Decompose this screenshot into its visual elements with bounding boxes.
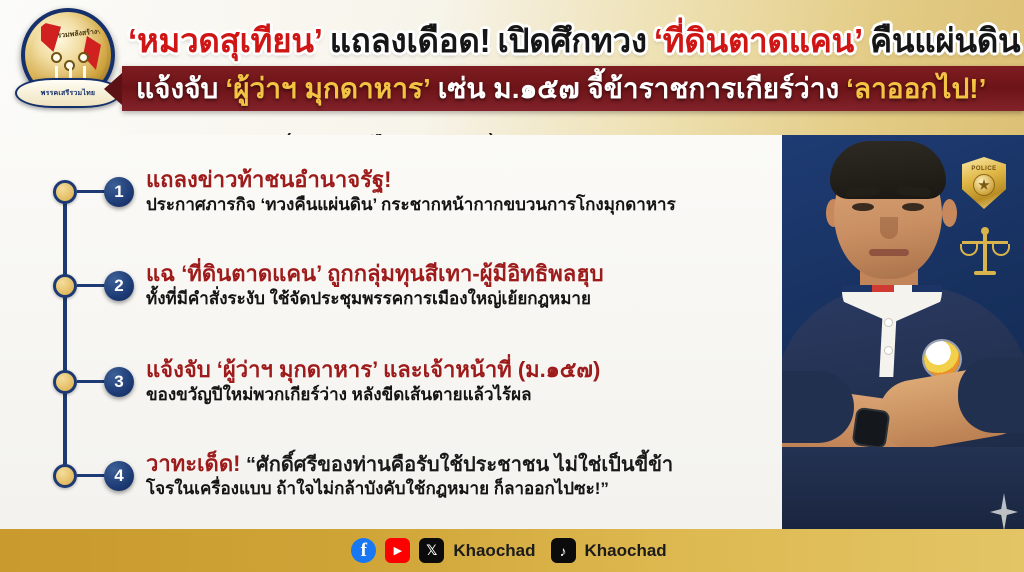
headline-1-part-0: ‘หมวดสุเทียน’ (128, 14, 323, 67)
headline-line-2-banner: แจ้งจับ‘ผู้ว่าฯ มุกดาหาร’เซ่น ม.๑๕๗ จี้ข… (122, 66, 1024, 111)
timeline-item-subtext: ทั้งที่มีคำสั่งระงับ ใช้จัดประชุมพรรคการ… (146, 288, 756, 309)
headline-line-1: ‘หมวดสุเทียน’แถลงเดือด!เปิดศึกทวง‘ที่ดิน… (128, 16, 1018, 64)
police-badge-disc (973, 174, 995, 196)
logo-dot (78, 52, 89, 63)
timeline-headline-text: แจ้งจับ ‘ผู้ว่าฯ มุกดาหาร’ และเจ้าหน้าที… (146, 357, 600, 382)
photo-sleeve-left (782, 371, 854, 443)
facebook-icon[interactable]: f (351, 538, 376, 563)
timeline-connector-1 (77, 190, 107, 193)
photo-ear-right (942, 199, 957, 227)
photo-eye-left (852, 203, 874, 211)
headline-2-part-1: ‘ผู้ว่าฯ มุกดาหาร’ (225, 67, 430, 111)
timeline-item-3: แจ้งจับ ‘ผู้ว่าฯ มุกดาหาร’ และเจ้าหน้าที… (146, 358, 756, 405)
photo-sleeve-right (958, 357, 1024, 433)
timeline-item-subtext: ประกาศภารกิจ ‘ทวงคืนแผ่นดิน’ กระชากหน้าก… (146, 194, 756, 215)
timeline-headline-quote: “ศักดิ์ศรีของท่านคือรับใช้ประชาชน ไม่ใช่… (240, 454, 673, 476)
subject-photo: POLICE (782, 135, 1024, 529)
timeline-item-headline: วาทะเด็ด! “ศักดิ์ศรีของท่านคือรับใช้ประช… (146, 452, 756, 476)
social-links: f▶𝕏Khaochad♪Khaochad (351, 538, 672, 563)
photo-eye-right (902, 203, 924, 211)
timeline-item-1: แถลงข่าวท้าชนอำนาจรัฐ!ประกาศภารกิจ ‘ทวงค… (146, 168, 756, 215)
timeline-item-headline: แจ้งจับ ‘ผู้ว่าฯ มุกดาหาร’ และเจ้าหน้าที… (146, 358, 756, 382)
timeline-item-4: วาทะเด็ด! “ศักดิ์ศรีของท่านคือรับใช้ประช… (146, 452, 756, 499)
timeline-connector-3 (77, 380, 107, 383)
social-handle[interactable]: Khaochad (585, 541, 667, 561)
timeline-headline-text: แฉ ‘ที่ดินตาดแคน’ ถูกกลุ่มทุนสีเทา-ผู้มี… (146, 261, 604, 286)
timeline-headline-text: วาทะเด็ด! (146, 451, 240, 476)
timeline-node-3 (53, 370, 77, 394)
scales-pan-left (960, 244, 978, 256)
photo-nose (880, 217, 898, 239)
timeline-connector-2 (77, 284, 107, 287)
timeline-headline-text: แถลงข่าวท้าชนอำนาจรัฐ! (146, 167, 391, 192)
headline-2-part-2: เซ่น ม.๑๕๗ จี้ข้าราชการเกียร์ว่าง (438, 67, 839, 111)
timeline-rail (63, 182, 67, 482)
photo-mouth (869, 249, 909, 256)
scales-of-justice-icon (960, 227, 1010, 279)
timeline-item-subtext: โจรในเครื่องแบบ ถ้าใจไม่กล้าบังคับใช้กฎห… (146, 478, 756, 499)
headline-1-part-4: คืนแผ่นดิน (870, 14, 1020, 67)
scales-post (983, 231, 987, 271)
headline-2-part-0: แจ้งจับ (136, 67, 218, 111)
headline-2-part-3: ‘ลาออกไป!’ (846, 67, 986, 111)
scales-base (974, 271, 996, 275)
timeline-connector-4 (77, 474, 107, 477)
timeline-node-2 (53, 274, 77, 298)
infographic-canvas: รวมพลังสร้างชาติ พรรคเสรีรวมไทย ‘หมวดสุเ… (0, 0, 1024, 572)
footer-social-bar: f▶𝕏Khaochad♪Khaochad (0, 529, 1024, 572)
timeline-number-badge-2[interactable]: 2 (104, 271, 134, 301)
police-badge-label: POLICE (971, 166, 996, 172)
photo-lower-torso (782, 447, 1024, 529)
header-banner: รวมพลังสร้างชาติ พรรคเสรีรวมไทย ‘หมวดสุเ… (0, 0, 1024, 135)
police-badge-icon: POLICE (962, 157, 1006, 209)
scales-pan-right (992, 244, 1010, 256)
timeline-item-2: แฉ ‘ที่ดินตาดแคน’ ถูกกลุ่มทุนสีเทา-ผู้มี… (146, 262, 756, 309)
headline-1-part-1: แถลงเดือด! (330, 14, 491, 67)
timeline-item-headline: แฉ ‘ที่ดินตาดแคน’ ถูกกลุ่มทุนสีเทา-ผู้มี… (146, 262, 756, 286)
timeline-number-badge-3[interactable]: 3 (104, 367, 134, 397)
timeline-node-1 (53, 180, 77, 204)
police-badge-star (978, 179, 990, 191)
timeline-item-headline: แถลงข่าวท้าชนอำนาจรัฐ! (146, 168, 756, 192)
headline-1-part-3: ‘ที่ดินตาดแคน’ (654, 14, 863, 67)
photo-shirt-button (885, 347, 892, 354)
tiktok-icon[interactable]: ♪ (551, 538, 576, 563)
logo-dot (51, 52, 62, 63)
x-twitter-icon[interactable]: 𝕏 (419, 538, 444, 563)
timeline-number-badge-4[interactable]: 4 (104, 461, 134, 491)
timeline-number-badge-1[interactable]: 1 (104, 177, 134, 207)
youtube-icon[interactable]: ▶ (385, 538, 410, 563)
photo-collar-stripe (842, 285, 942, 292)
social-handle[interactable]: Khaochad (453, 541, 535, 561)
photo-wristwatch (854, 409, 888, 447)
headline-1-part-2: เปิดศึกทวง (497, 14, 646, 67)
photo-shirt-button (885, 319, 892, 326)
timeline-node-4 (53, 464, 77, 488)
timeline-item-subtext: ของขวัญปีใหม่พวกเกียร์ว่าง หลังขีดเส้นตา… (146, 384, 756, 405)
